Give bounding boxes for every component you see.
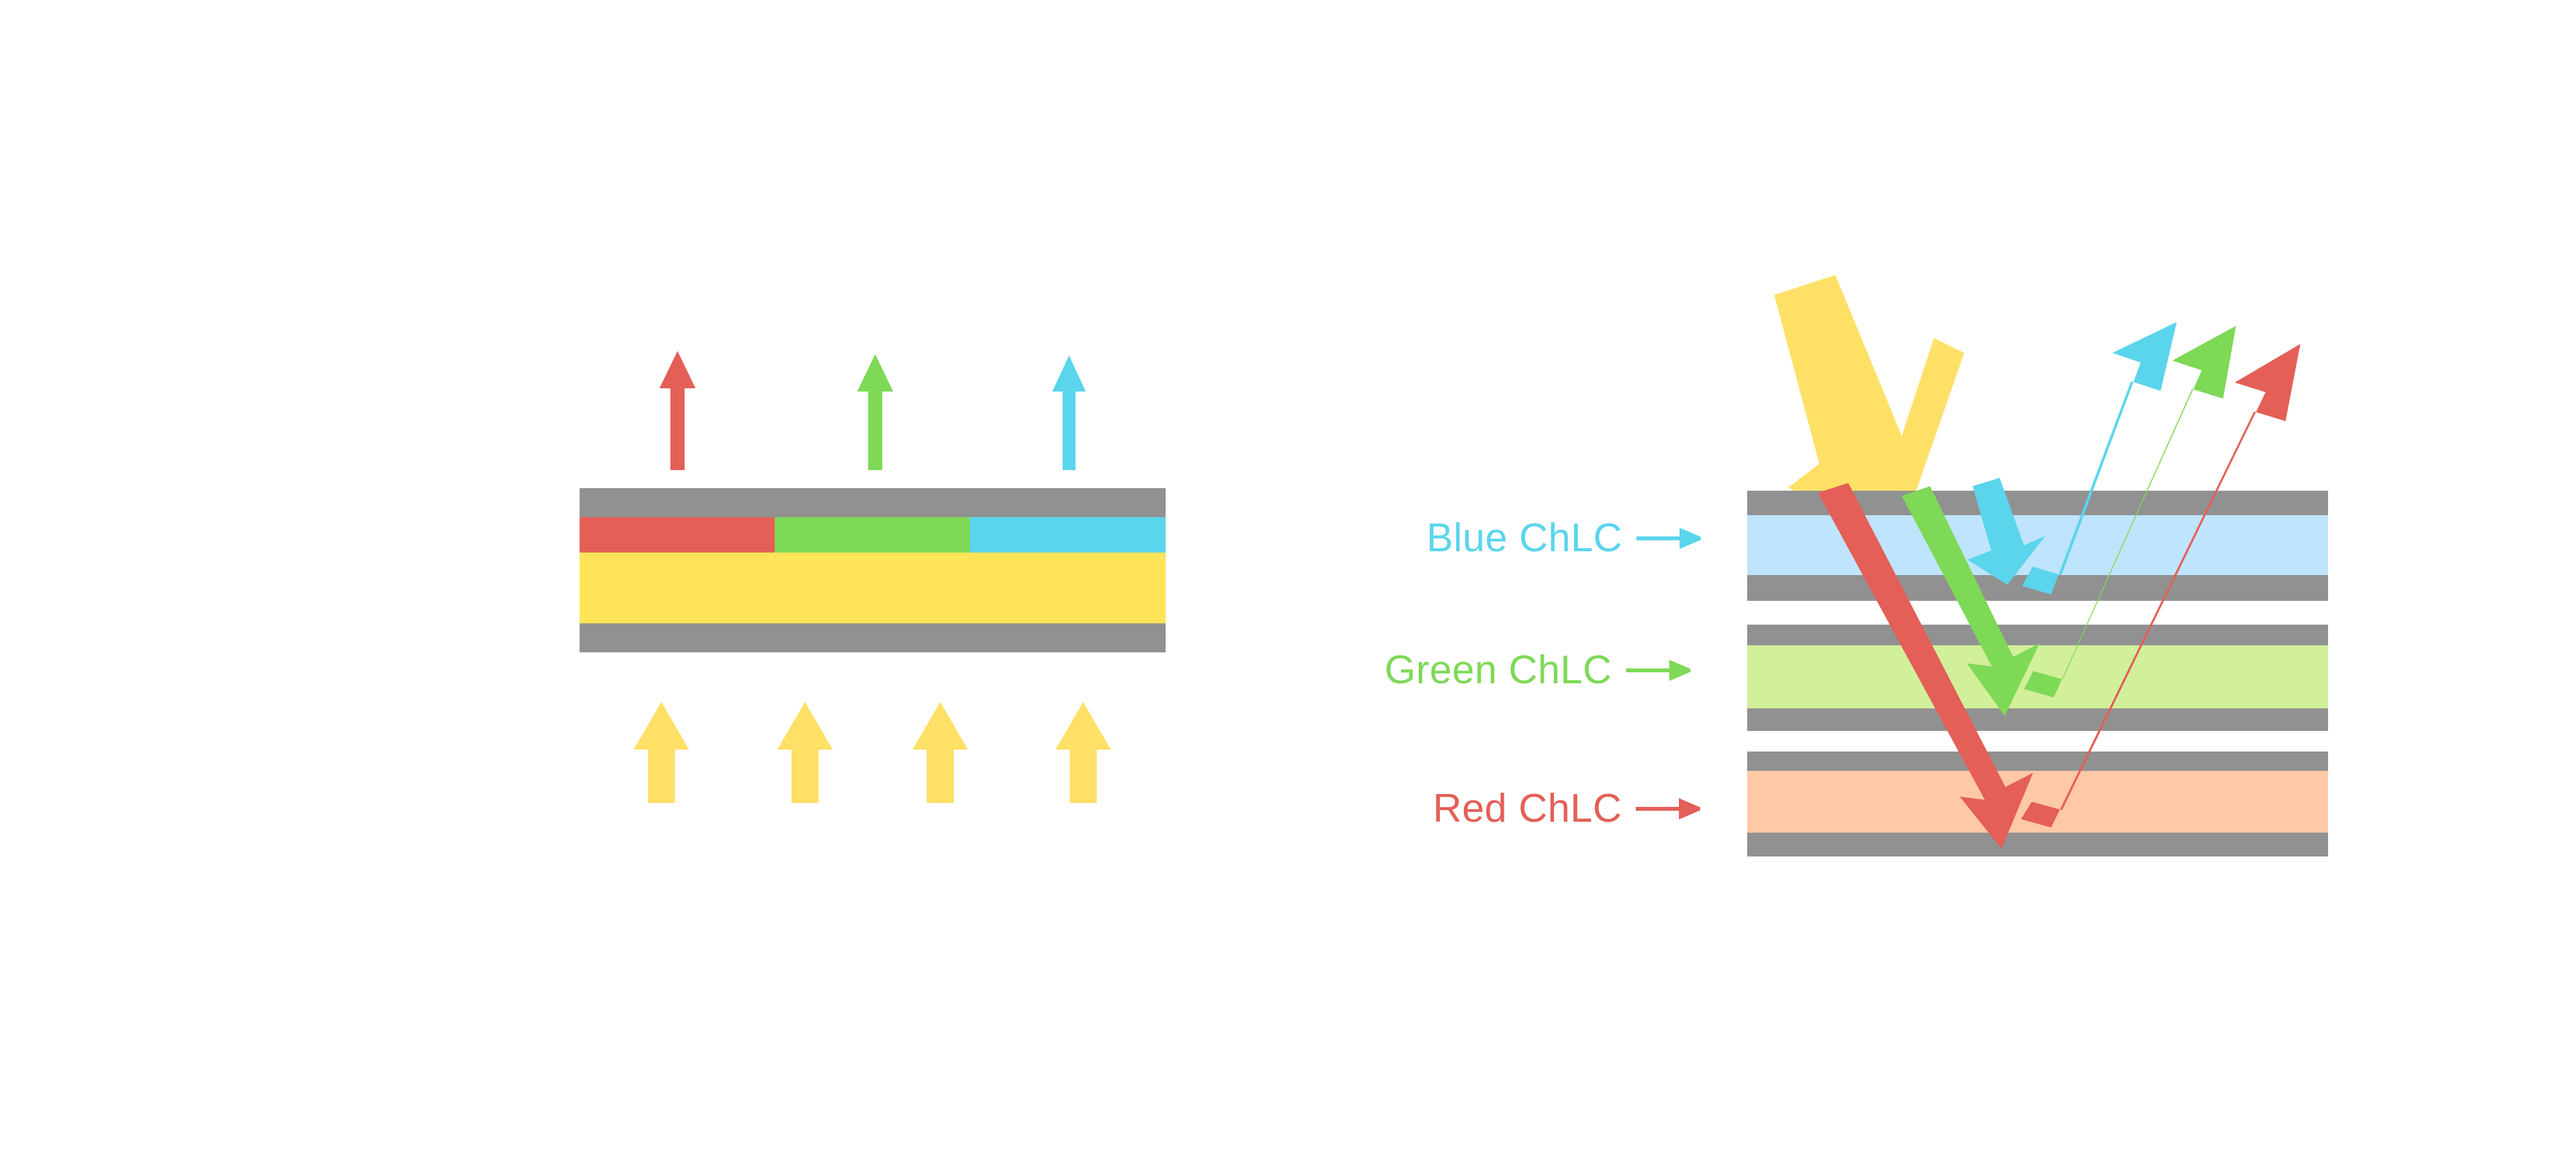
green-chlc-pointer-arrow-icon xyxy=(1626,659,1690,681)
green-chlc-label-row: Green ChLC xyxy=(1385,650,1690,690)
blue-chlc-label: Blue ChLC xyxy=(1426,518,1622,558)
backlight-arrow-2 xyxy=(777,702,833,803)
backlight-source-arrows xyxy=(634,702,1111,803)
emitted-light-arrows xyxy=(659,351,1086,470)
blue-chlc-pointer-arrow-icon xyxy=(1636,527,1701,549)
red-chlc-pointer-arrow-icon xyxy=(1636,798,1700,820)
red-subpixel xyxy=(580,517,775,553)
red-bottom-electrode xyxy=(1747,833,2328,856)
backlight-arrow-3 xyxy=(913,702,968,803)
emitted-cyan-arrow xyxy=(1052,355,1086,470)
diagram-svg xyxy=(0,0,2576,1154)
red-chlc-label-row: Red ChLC xyxy=(1433,789,1700,829)
green-subpixel xyxy=(775,517,970,553)
green-bottom-electrode xyxy=(1747,708,2328,731)
red-chlc-label: Red ChLC xyxy=(1433,789,1622,829)
cyan-subpixel xyxy=(970,517,1166,553)
left-panel-group xyxy=(580,351,1166,803)
green-chlc-label: Green ChLC xyxy=(1385,650,1612,690)
backlight-arrow-4 xyxy=(1056,702,1111,803)
diagram-canvas: Blue ChLC Green ChLC Red ChLC xyxy=(0,0,2576,1154)
emitted-green-arrow xyxy=(857,354,893,470)
blue-chlc-label-row: Blue ChLC xyxy=(1426,518,1701,558)
yellow-backlight-layer xyxy=(580,553,1166,623)
top-electrode-gray-bar xyxy=(580,488,1166,517)
green-top-electrode xyxy=(1747,625,2328,645)
red-top-electrode xyxy=(1747,752,2328,771)
right-panel-group xyxy=(1747,275,2328,856)
backlight-arrow-1 xyxy=(634,702,689,803)
bottom-electrode-gray-bar xyxy=(580,623,1166,652)
left-stack xyxy=(580,488,1166,652)
emitted-red-arrow xyxy=(659,351,696,470)
